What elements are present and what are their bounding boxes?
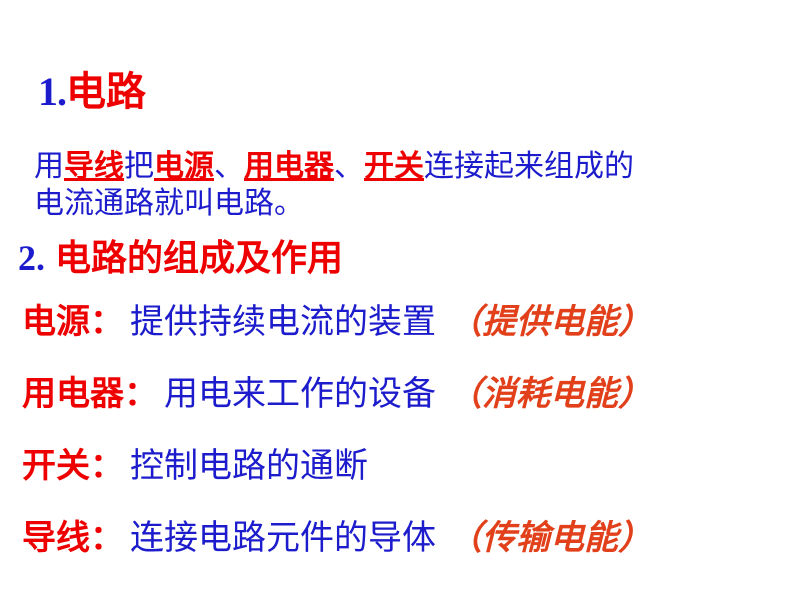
component-note: （消耗电能） — [448, 376, 652, 413]
definition-post-text: 连接起来组成的 — [424, 150, 634, 183]
component-term: 电源： — [22, 304, 124, 341]
component-row-appliance: 用电器：用电来工作的设备（消耗电能） — [22, 372, 798, 444]
component-row-switch: 开关：控制电路的通断 — [22, 444, 798, 516]
definition-separator-2: 、 — [334, 150, 364, 183]
definition-term-appliance: 用电器 — [244, 150, 334, 183]
component-term: 导线： — [22, 520, 124, 557]
component-description: 连接电路元件的导体 — [130, 520, 436, 557]
component-description: 控制电路的通断 — [130, 448, 368, 485]
component-description: 提供持续电流的装置 — [130, 304, 436, 341]
definition-line-2: 电流通路就叫电路。 — [34, 185, 790, 222]
heading-1-number: 1. — [38, 69, 66, 114]
heading-2-title: 电路的组成及作用 — [55, 238, 343, 278]
component-row-power-source: 电源：提供持续电流的装置（提供电能） — [22, 300, 798, 372]
heading-2-number: 2. — [18, 238, 45, 278]
component-term: 开关： — [22, 448, 124, 485]
component-note: （传输电能） — [448, 520, 652, 557]
component-description: 用电来工作的设备 — [164, 376, 436, 413]
definition-term-wire: 导线 — [64, 150, 124, 183]
heading-1: 1.电路 — [38, 72, 146, 112]
definition-separator-1: 、 — [214, 150, 244, 183]
component-note: （提供电能） — [448, 304, 652, 341]
definition-mid-text: 把 — [124, 150, 154, 183]
heading-2: 2.电路的组成及作用 — [18, 240, 343, 276]
definition-term-switch: 开关 — [364, 150, 424, 183]
component-list: 电源：提供持续电流的装置（提供电能） 用电器：用电来工作的设备（消耗电能） 开关… — [22, 300, 798, 588]
definition-line-1: 用导线把电源、用电器、开关连接起来组成的 — [34, 148, 790, 185]
definition-paragraph: 用导线把电源、用电器、开关连接起来组成的 电流通路就叫电路。 — [34, 148, 790, 222]
heading-1-title: 电路 — [66, 69, 146, 114]
component-term: 用电器： — [22, 376, 158, 413]
slide-canvas: 1.电路 用导线把电源、用电器、开关连接起来组成的 电流通路就叫电路。 2.电路… — [0, 0, 800, 600]
definition-pre-text: 用 — [34, 150, 64, 183]
component-row-wire: 导线：连接电路元件的导体（传输电能） — [22, 516, 798, 588]
definition-term-power-source: 电源 — [154, 150, 214, 183]
